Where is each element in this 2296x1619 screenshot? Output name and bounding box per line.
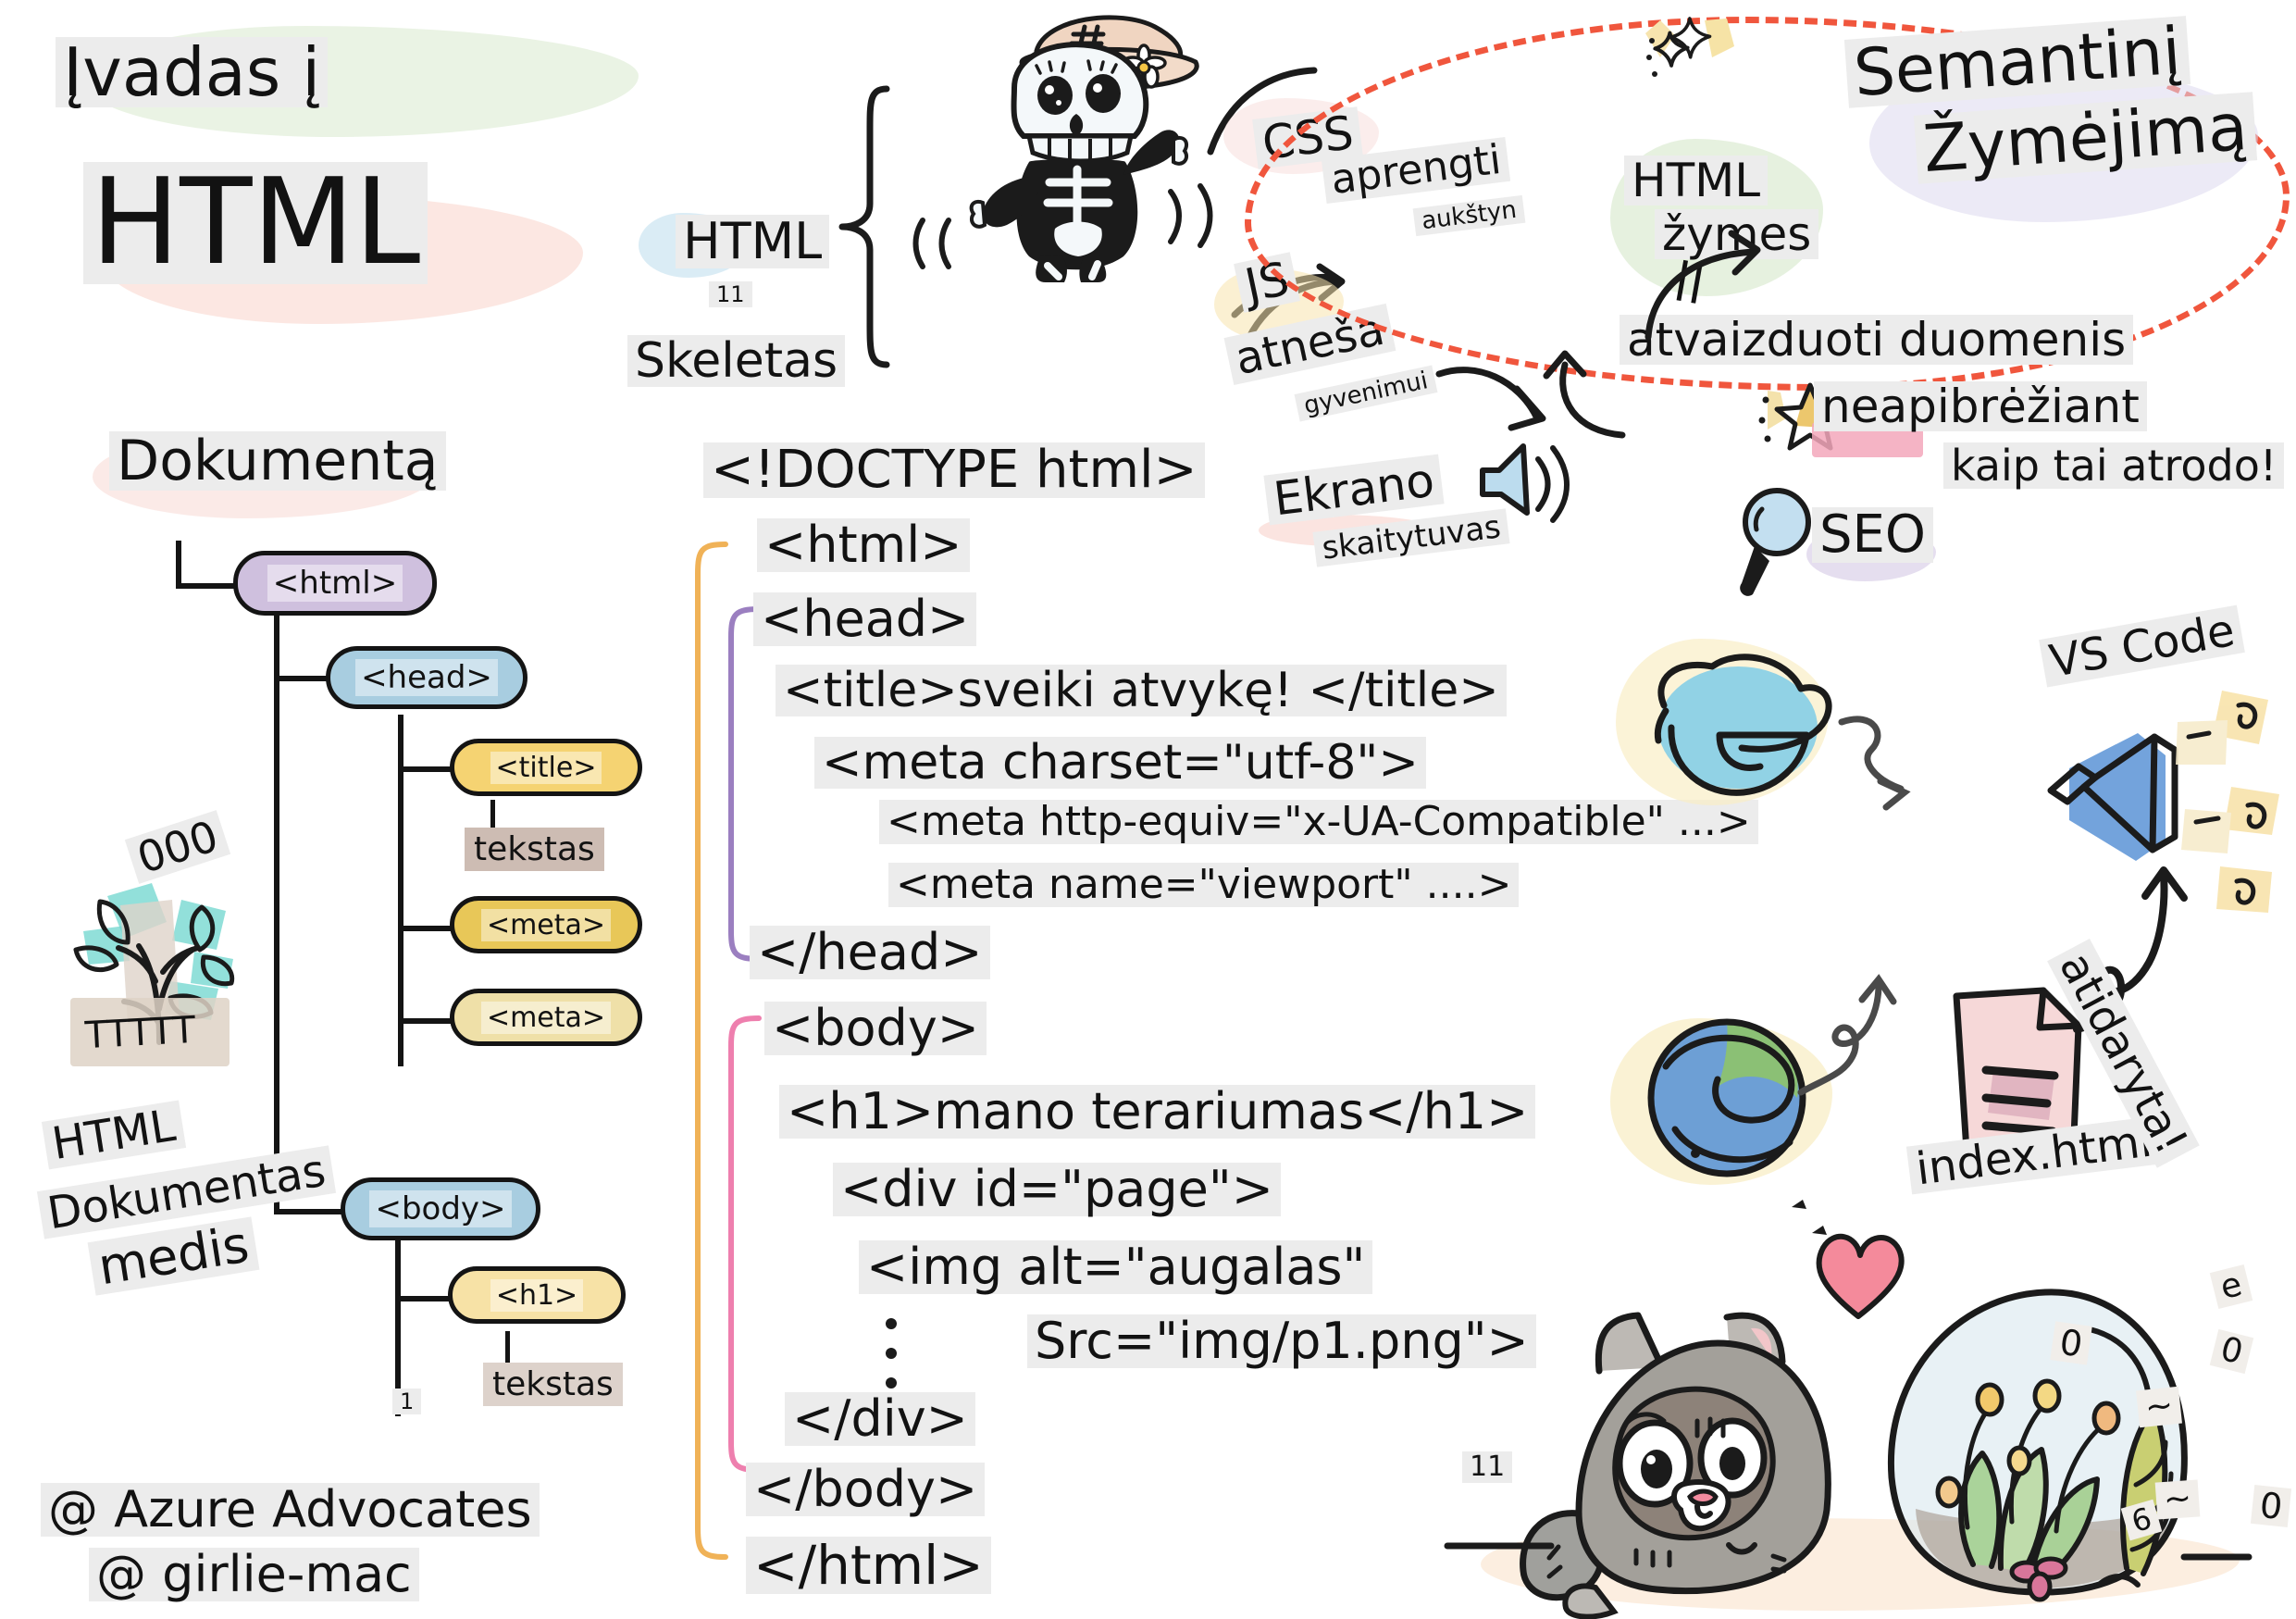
doc-tree-heading: Dokumentą	[109, 431, 446, 491]
semantic-zymes-label-text: žymes	[1655, 209, 1818, 259]
internet-explorer-icon	[1638, 639, 1842, 824]
stray-mark-zero-terrarium: 0	[2050, 1321, 2092, 1364]
semantic-kaip-tai-atrodo-text: kaip tai atrodo!	[1943, 442, 2284, 489]
motion-ticks-left	[912, 211, 995, 276]
tree-node-meta-1[interactable]: <meta>	[450, 896, 642, 953]
code-line-head-close-text: </head>	[750, 926, 990, 979]
code-line-img-text: <img alt="augalas"	[859, 1240, 1372, 1294]
semantic-render-data: atvaizduoti duomenis	[1620, 315, 2133, 365]
code-line-div-close-text: </div>	[785, 1392, 975, 1446]
code-line-div-open: <div id="page">	[833, 1163, 1281, 1216]
sparkle-icons	[1638, 17, 1777, 109]
seo-label-text: SEO	[1812, 507, 1933, 563]
semantic-html-label-text: HTML	[1624, 156, 1768, 205]
code-line-body-open-text: <body>	[764, 1002, 987, 1055]
tree-node-h1-text-label: tekstas	[483, 1363, 623, 1406]
seo-label: SEO	[1812, 507, 1933, 563]
code-line-html-close-text: </html>	[746, 1537, 991, 1594]
stray-mark-zero-a: 0	[2210, 1329, 2253, 1374]
tree-node-meta-1-label: <meta>	[481, 909, 611, 941]
vscode-label: VS Code	[2039, 605, 2245, 688]
tree-node-body-label: <body>	[369, 1190, 511, 1227]
tree-node-h1-label: <h1>	[490, 1279, 583, 1312]
code-line-title: <title>sveiki atvykę! </title>	[776, 665, 1507, 716]
semantic-html-label: HTML	[1624, 156, 1768, 205]
code-line-head-open-text: <head>	[753, 592, 976, 646]
stray-mark-tilde-a: ~	[2136, 1387, 2182, 1428]
code-line-meta-viewport: <meta name="viewport" ....>	[888, 863, 1519, 907]
js-label: JS	[1234, 252, 1300, 313]
page-title-line2-text: HTML	[83, 162, 428, 284]
doc-tree-caption-line1: HTML	[42, 1101, 186, 1170]
stray-mark-e-text: e	[2210, 1264, 2253, 1309]
skeleton-skeletas-label: Skeletas	[627, 335, 845, 387]
file-label-text: index.html	[1906, 1116, 2162, 1195]
code-line-doctype: <!DOCTYPE html>	[703, 442, 1205, 498]
vscode-icon	[2036, 713, 2203, 879]
vscode-sticker-decor	[2170, 685, 2296, 926]
doc-tree-caption-line1-text: HTML	[42, 1101, 186, 1170]
code-bracket-body	[720, 1013, 766, 1476]
semantic-heading-line1: Semantinį	[1844, 16, 2191, 108]
curly-brace	[833, 83, 916, 370]
semantic-neapibreziant-text: neapibrėžiant	[1814, 381, 2147, 431]
code-ellipsis	[879, 1314, 903, 1398]
screen-reader-line1-text: Ekrano	[1263, 455, 1444, 526]
semantic-kaip-tai-atrodo: kaip tai atrodo!	[1943, 442, 2284, 489]
js-note-atnesa: atneša	[1224, 304, 1396, 385]
semantic-heading-line2: Žymėjimą	[1914, 92, 2257, 183]
tree-node-html-label: <html>	[267, 565, 403, 602]
credit-line-2: @ girlie-mac	[89, 1548, 419, 1601]
credit-line-2-text: @ girlie-mac	[89, 1548, 419, 1601]
page-title-line2: HTML	[83, 162, 428, 284]
tree-line-html-body	[274, 1209, 342, 1214]
code-line-head-open: <head>	[753, 592, 976, 646]
code-line-title-text: <title>sveiki atvykę! </title>	[776, 665, 1507, 716]
css-note-aukstyn-text: aukštyn	[1413, 195, 1526, 236]
heart-icon	[1805, 1222, 1916, 1333]
plant-pot-label-text: TTTTT	[84, 1009, 197, 1057]
code-line-div-close: </div>	[785, 1392, 975, 1446]
ie-yellow-wash	[1616, 639, 1829, 805]
code-bracket-head	[720, 604, 766, 965]
tree-node-title-text: tekstas	[465, 833, 604, 866]
tree-line-head-meta2	[398, 1018, 452, 1024]
code-line-img-src: Src="img/p1.png">	[1027, 1314, 1536, 1368]
tree-line-html-head	[274, 676, 329, 681]
code-line-head-close: </head>	[750, 926, 990, 979]
css-note-aukstyn: aukštyn	[1413, 195, 1526, 236]
js-note-gyvenimui-text: gyvenimui	[1295, 366, 1438, 422]
code-line-div-open-text: <div id="page">	[833, 1163, 1281, 1216]
stray-mark-e: e	[2210, 1264, 2253, 1309]
page-number-bottom: 11	[1462, 1451, 1512, 1483]
code-line-doctype-text: <!DOCTYPE html>	[703, 442, 1205, 498]
semantic-heading-line1-text: Semantinį	[1844, 16, 2191, 108]
tree-branch-marker: 1	[392, 1389, 421, 1414]
semantic-neapibreziant: neapibrėžiant	[1814, 381, 2147, 431]
plant-label: 000	[125, 810, 230, 884]
edge-to-code-arrow	[1795, 963, 1943, 1111]
tree-node-meta-2-label: <meta>	[481, 1002, 611, 1034]
code-line-h1: <h1>mano terariumas</h1>	[779, 1085, 1535, 1139]
tree-node-html[interactable]: <html>	[233, 551, 437, 616]
skeleton-page-number-text: 11	[709, 281, 752, 307]
plant-pot-label: TTTTT	[84, 1012, 196, 1054]
stray-mark-tilde-b-text: ~	[2155, 1479, 2201, 1519]
credit-line-1: @ Azure Advocates	[41, 1483, 540, 1537]
vscode-label-text: VS Code	[2039, 605, 2245, 688]
stray-mark-zero-a-text: 0	[2210, 1329, 2253, 1374]
plant-label-text: 000	[125, 810, 230, 884]
skeleton-html-label: HTML	[676, 215, 829, 268]
code-line-body-open: <body>	[764, 1002, 987, 1055]
js-label-text: JS	[1234, 252, 1300, 313]
tree-line-head-meta1	[398, 926, 452, 931]
edge-yellow-wash	[1610, 1018, 1832, 1185]
code-line-body-close: </body>	[746, 1463, 985, 1516]
page-number-bottom-text: 11	[1462, 1451, 1512, 1483]
tree-line-body-h1	[395, 1296, 451, 1301]
code-line-body-close-text: </body>	[746, 1463, 985, 1516]
code-line-meta-http-equiv: <meta http-equiv="x-UA-Compatible" ...>	[879, 800, 1758, 844]
js-note-gyvenimui: gyvenimui	[1295, 366, 1438, 422]
js-note-atnesa-text: atneša	[1224, 304, 1396, 385]
semantic-equals-sign: ||	[1671, 257, 1707, 303]
credit-line-1-text: @ Azure Advocates	[41, 1483, 540, 1537]
tree-node-title[interactable]: <title>	[450, 739, 642, 796]
code-line-img: <img alt="augalas"	[859, 1240, 1372, 1294]
code-line-meta-charset-text: <meta charset="utf-8">	[814, 737, 1426, 789]
code-line-meta-charset: <meta charset="utf-8">	[814, 737, 1426, 789]
code-line-html-close: </html>	[746, 1537, 991, 1594]
page-title-line1: Įvadas į	[56, 37, 328, 107]
code-line-html-open: <html>	[757, 518, 970, 572]
skeleton-page-number: 11	[709, 281, 752, 307]
tree-node-meta-2[interactable]: <meta>	[450, 989, 642, 1046]
semantic-render-data-text: atvaizduoti duomenis	[1620, 315, 2133, 365]
cat-illustration	[1499, 1282, 1980, 1619]
stray-mark-zero-b-text: 0	[2251, 1485, 2291, 1527]
code-line-meta-viewport-text: <meta name="viewport" ....>	[888, 863, 1519, 907]
tree-node-h1[interactable]: <h1>	[448, 1266, 626, 1324]
ground-line	[1444, 1537, 1555, 1555]
semantic-zymes-label: žymes	[1655, 209, 1818, 259]
code-line-img-src-text: Src="img/p1.png">	[1027, 1314, 1536, 1368]
stray-mark-tilde-b: ~	[2155, 1479, 2201, 1519]
tree-node-head[interactable]: <head>	[326, 646, 527, 709]
page-title-line1-text: Įvadas į	[56, 37, 328, 107]
code-line-h1-text: <h1>mano terariumas</h1>	[779, 1085, 1535, 1139]
doc-tree-heading-text: Dokumentą	[109, 431, 446, 491]
tree-branch-marker-text: 1	[392, 1389, 421, 1414]
file-label: index.html	[1906, 1116, 2162, 1195]
stray-mark-tilde-a-text: ~	[2136, 1387, 2182, 1428]
microsoft-edge-icon	[1638, 1009, 1823, 1194]
tree-node-title-label: <title>	[490, 752, 602, 784]
stray-mark-zero-b: 0	[2251, 1485, 2291, 1527]
stray-mark-zero-terrarium-text: 0	[2050, 1321, 2092, 1364]
code-bracket-html	[685, 537, 731, 1564]
screen-reader-line1: Ekrano	[1263, 455, 1444, 526]
code-line-html-open-text: <html>	[757, 518, 970, 572]
tree-node-h1-text: tekstas	[483, 1368, 623, 1401]
tree-node-title-text-label: tekstas	[465, 828, 604, 871]
tree-node-head-label: <head>	[355, 659, 498, 696]
tree-node-body[interactable]: <body>	[341, 1177, 540, 1240]
tree-line-html-spine	[274, 613, 279, 1214]
ie-to-code-arrow	[1832, 704, 1962, 833]
cloud-arrow-3	[1430, 361, 1569, 472]
motion-ticks-right	[1152, 181, 1235, 255]
semantic-heading-line2-text: Žymėjimą	[1914, 92, 2257, 183]
skeleton-character-illustration	[925, 5, 1249, 282]
skeleton-html-label-text: HTML	[676, 215, 829, 268]
tree-line-root-v	[176, 541, 181, 589]
code-line-meta-http-equiv-text: <meta http-equiv="x-UA-Compatible" ...>	[879, 800, 1758, 844]
skeleton-skeletas-label-text: Skeletas	[627, 335, 845, 387]
tree-line-head-title	[398, 766, 452, 772]
cat-ground-wash	[1481, 1518, 2240, 1611]
